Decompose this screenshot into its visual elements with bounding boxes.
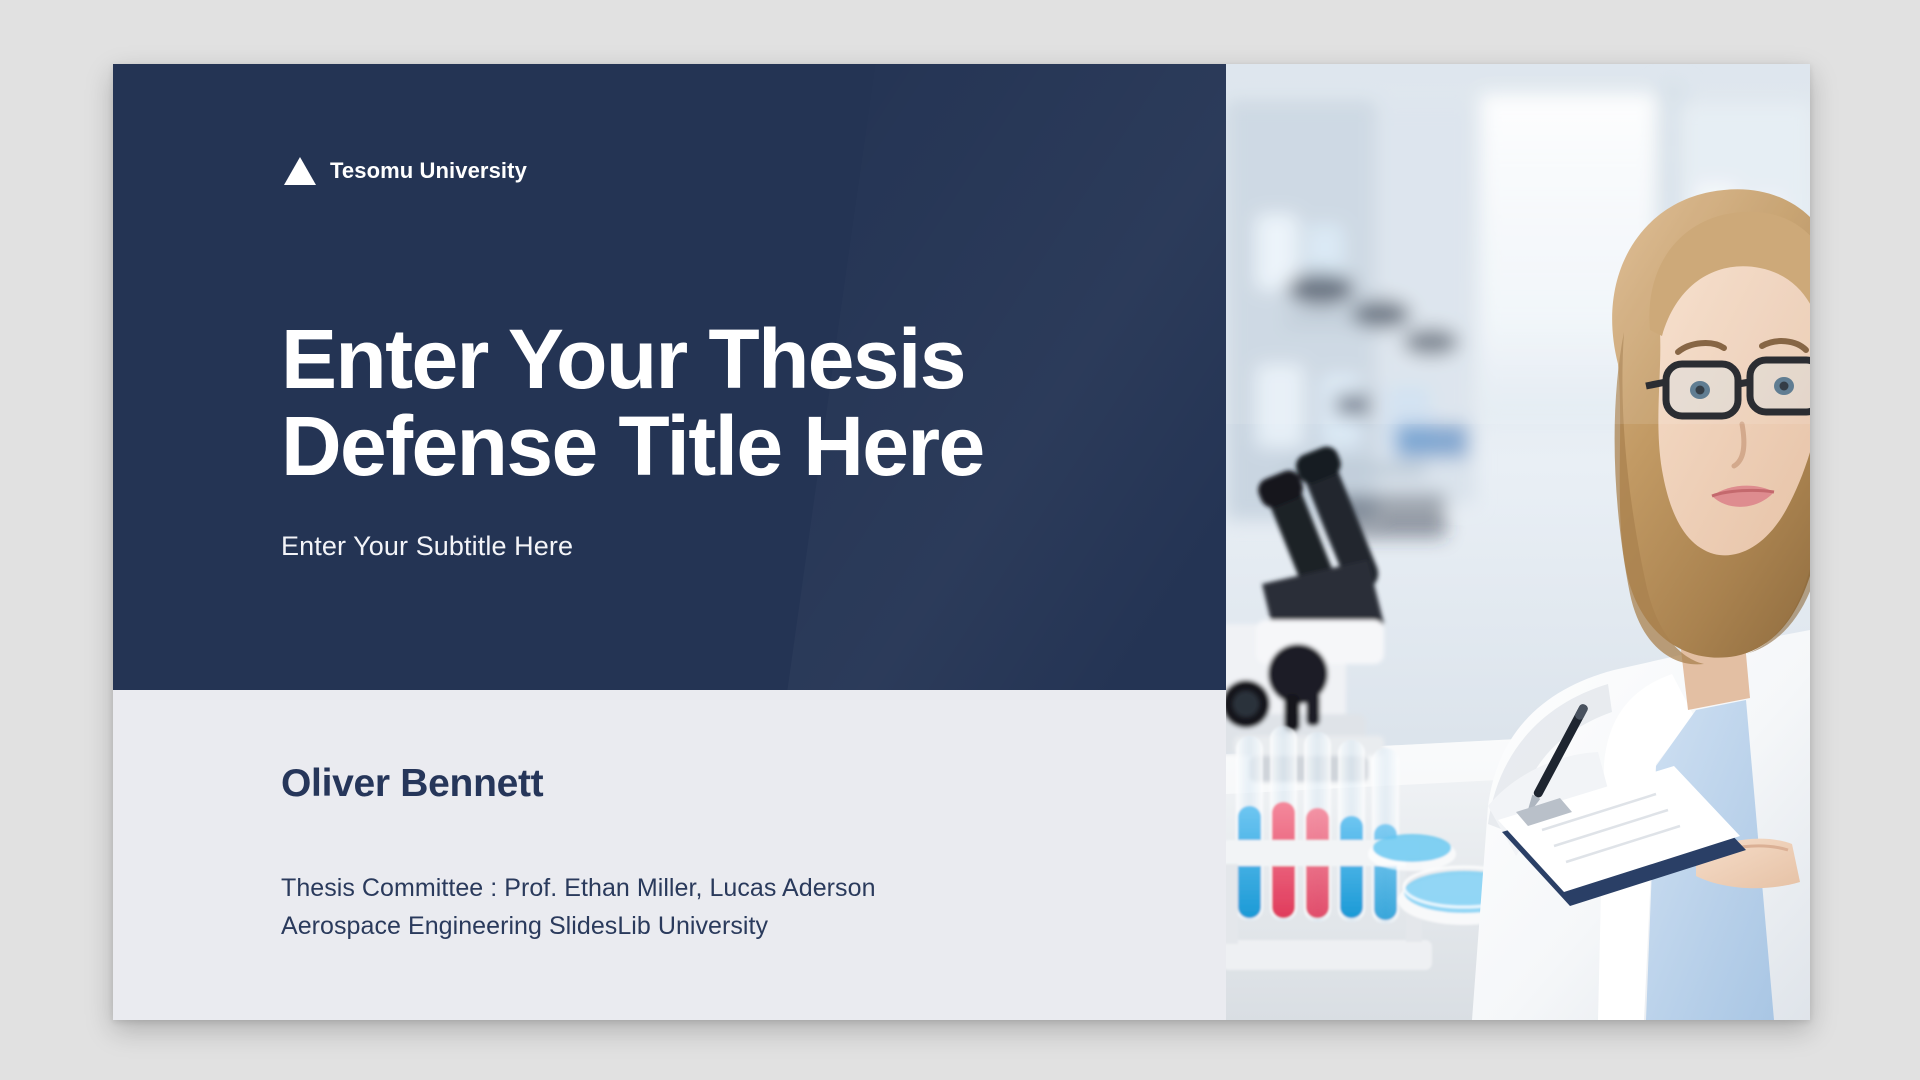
title-block: Enter Your Thesis Defense Title Here Ent…	[281, 316, 1181, 562]
meta-line-department: Aerospace Engineering SlidesLib Universi…	[281, 907, 1226, 945]
title-slide: Tesomu University Enter Your Thesis Defe…	[113, 64, 1810, 1020]
presenter-name: Oliver Bennett	[281, 762, 1226, 806]
brand-lockup: Tesomu University	[283, 156, 527, 186]
brand-name: Tesomu University	[330, 158, 527, 184]
presenter-panel: Oliver Bennett Thesis Committee : Prof. …	[113, 690, 1226, 1020]
meta-line-committee: Thesis Committee : Prof. Ethan Miller, L…	[281, 869, 1226, 907]
presenter-meta: Thesis Committee : Prof. Ethan Miller, L…	[281, 869, 1226, 945]
page-subtitle: Enter Your Subtitle Here	[281, 531, 1181, 562]
navy-hero-panel: Tesomu University Enter Your Thesis Defe…	[113, 64, 1226, 690]
photo-illustration	[1226, 64, 1810, 1020]
triangle-logo-icon	[283, 156, 317, 186]
slide-left-column: Tesomu University Enter Your Thesis Defe…	[113, 64, 1226, 1020]
slide-canvas: Tesomu University Enter Your Thesis Defe…	[0, 0, 1920, 1080]
laboratory-researcher-photo	[1226, 64, 1810, 1020]
page-title: Enter Your Thesis Defense Title Here	[281, 316, 1181, 491]
